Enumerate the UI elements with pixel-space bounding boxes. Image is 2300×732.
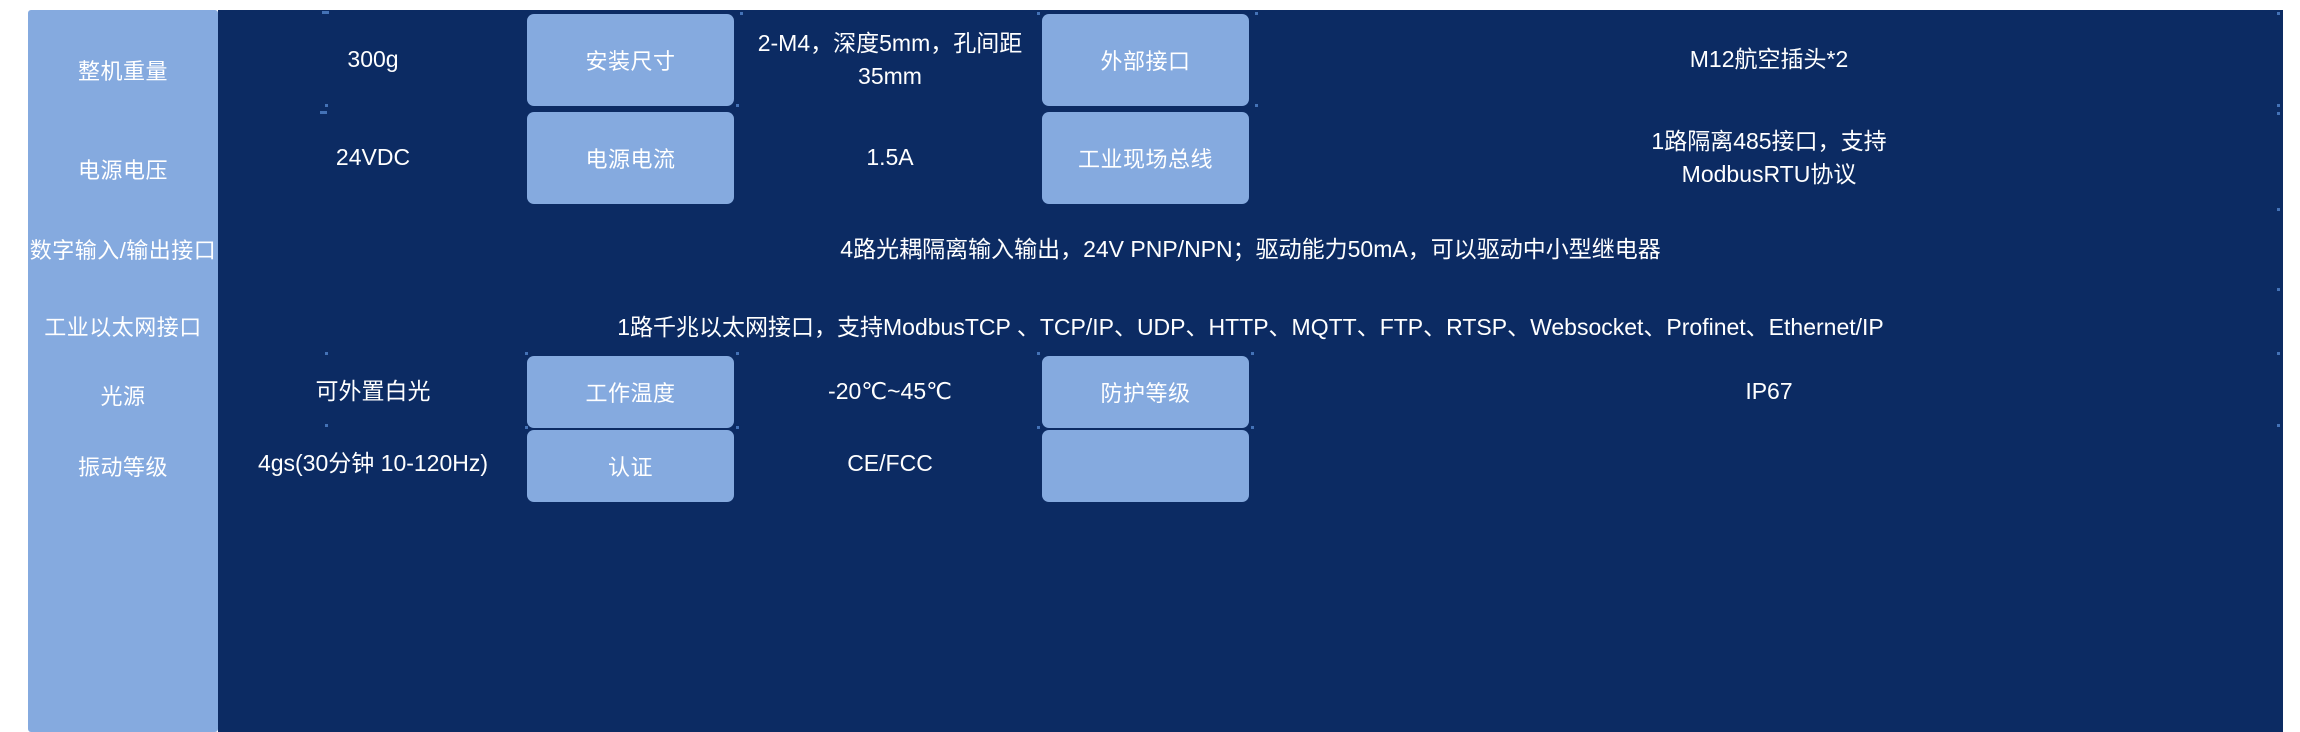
row-label-5: 振动等级 — [28, 454, 218, 482]
row-4-value-2: -20℃~45℃ — [740, 354, 1040, 430]
row-4-value-3: IP67 — [1255, 354, 2283, 430]
row-5-key-2[interactable]: 认证 — [527, 430, 734, 502]
row-1-key-3[interactable]: 工业现场总线 — [1042, 112, 1249, 204]
selection-handle — [2277, 104, 2280, 107]
row-1-value-1: 24VDC — [218, 112, 528, 204]
selection-handle — [1037, 352, 1040, 355]
spec-table-slide: 整机重量 电源电压 数字输入/输出接口 工业以太网接口 光源 振动等级 300g… — [0, 0, 2300, 732]
selection-handle — [1255, 104, 1258, 107]
selection-handle — [320, 111, 327, 114]
selection-handle — [2277, 112, 2280, 115]
selection-handle — [740, 12, 743, 15]
selection-handle — [325, 352, 328, 355]
selection-handle — [1037, 426, 1040, 429]
selection-handle — [2277, 424, 2280, 427]
selection-handle — [325, 104, 328, 107]
row-4-key-2[interactable]: 工作温度 — [527, 356, 734, 428]
selection-handle — [736, 352, 739, 355]
row-label-4: 光源 — [28, 383, 218, 411]
row-1-value-2: 1.5A — [740, 112, 1040, 204]
row-label-1: 电源电压 — [28, 157, 218, 185]
row-0-value-2: 2-M4，深度5mm，孔间距35mm — [740, 14, 1040, 106]
selection-handle — [2277, 208, 2280, 211]
selection-handle — [322, 11, 329, 14]
row-0-key-2[interactable]: 安装尺寸 — [527, 14, 734, 106]
row-label-column: 整机重量 电源电压 数字输入/输出接口 工业以太网接口 光源 振动等级 — [28, 10, 218, 732]
row-1-value-3: 1路隔离485接口，支持ModbusRTU协议 — [1255, 112, 2283, 204]
row-5-value-3 — [1255, 426, 2283, 502]
row-label-3: 工业以太网接口 — [28, 314, 218, 342]
selection-handle — [1037, 12, 1040, 15]
selection-handle — [1251, 352, 1254, 355]
row-5-value-2: CE/FCC — [740, 426, 1040, 502]
row-5-key-3[interactable] — [1042, 430, 1249, 502]
selection-handle — [325, 424, 328, 427]
selection-handle — [1255, 12, 1258, 15]
selection-handle — [525, 352, 528, 355]
row-0-value-1: 300g — [218, 14, 528, 106]
row-0-value-3: M12航空插头*2 — [1255, 14, 2283, 106]
row-label-0: 整机重量 — [28, 58, 218, 86]
selection-handle — [1251, 426, 1254, 429]
row-4-value-1: 可外置白光 — [218, 354, 528, 430]
row-1-key-2[interactable]: 电源电流 — [527, 112, 734, 204]
selection-handle — [736, 426, 739, 429]
row-label-2: 数字输入/输出接口 — [28, 237, 218, 265]
selection-handle — [525, 426, 528, 429]
row-5-value-1: 4gs(30分钟 10-120Hz) — [218, 426, 528, 502]
selection-handle — [2277, 12, 2280, 15]
row-0-key-3[interactable]: 外部接口 — [1042, 14, 1249, 106]
selection-handle — [2277, 288, 2280, 291]
row-4-key-3[interactable]: 防护等级 — [1042, 356, 1249, 428]
selection-handle — [2277, 352, 2280, 355]
row-2-value-full: 4路光耦隔离输入输出，24V PNP/NPN；驱动能力50mA，可以驱动中小型继… — [218, 210, 2283, 290]
selection-handle — [736, 104, 739, 107]
